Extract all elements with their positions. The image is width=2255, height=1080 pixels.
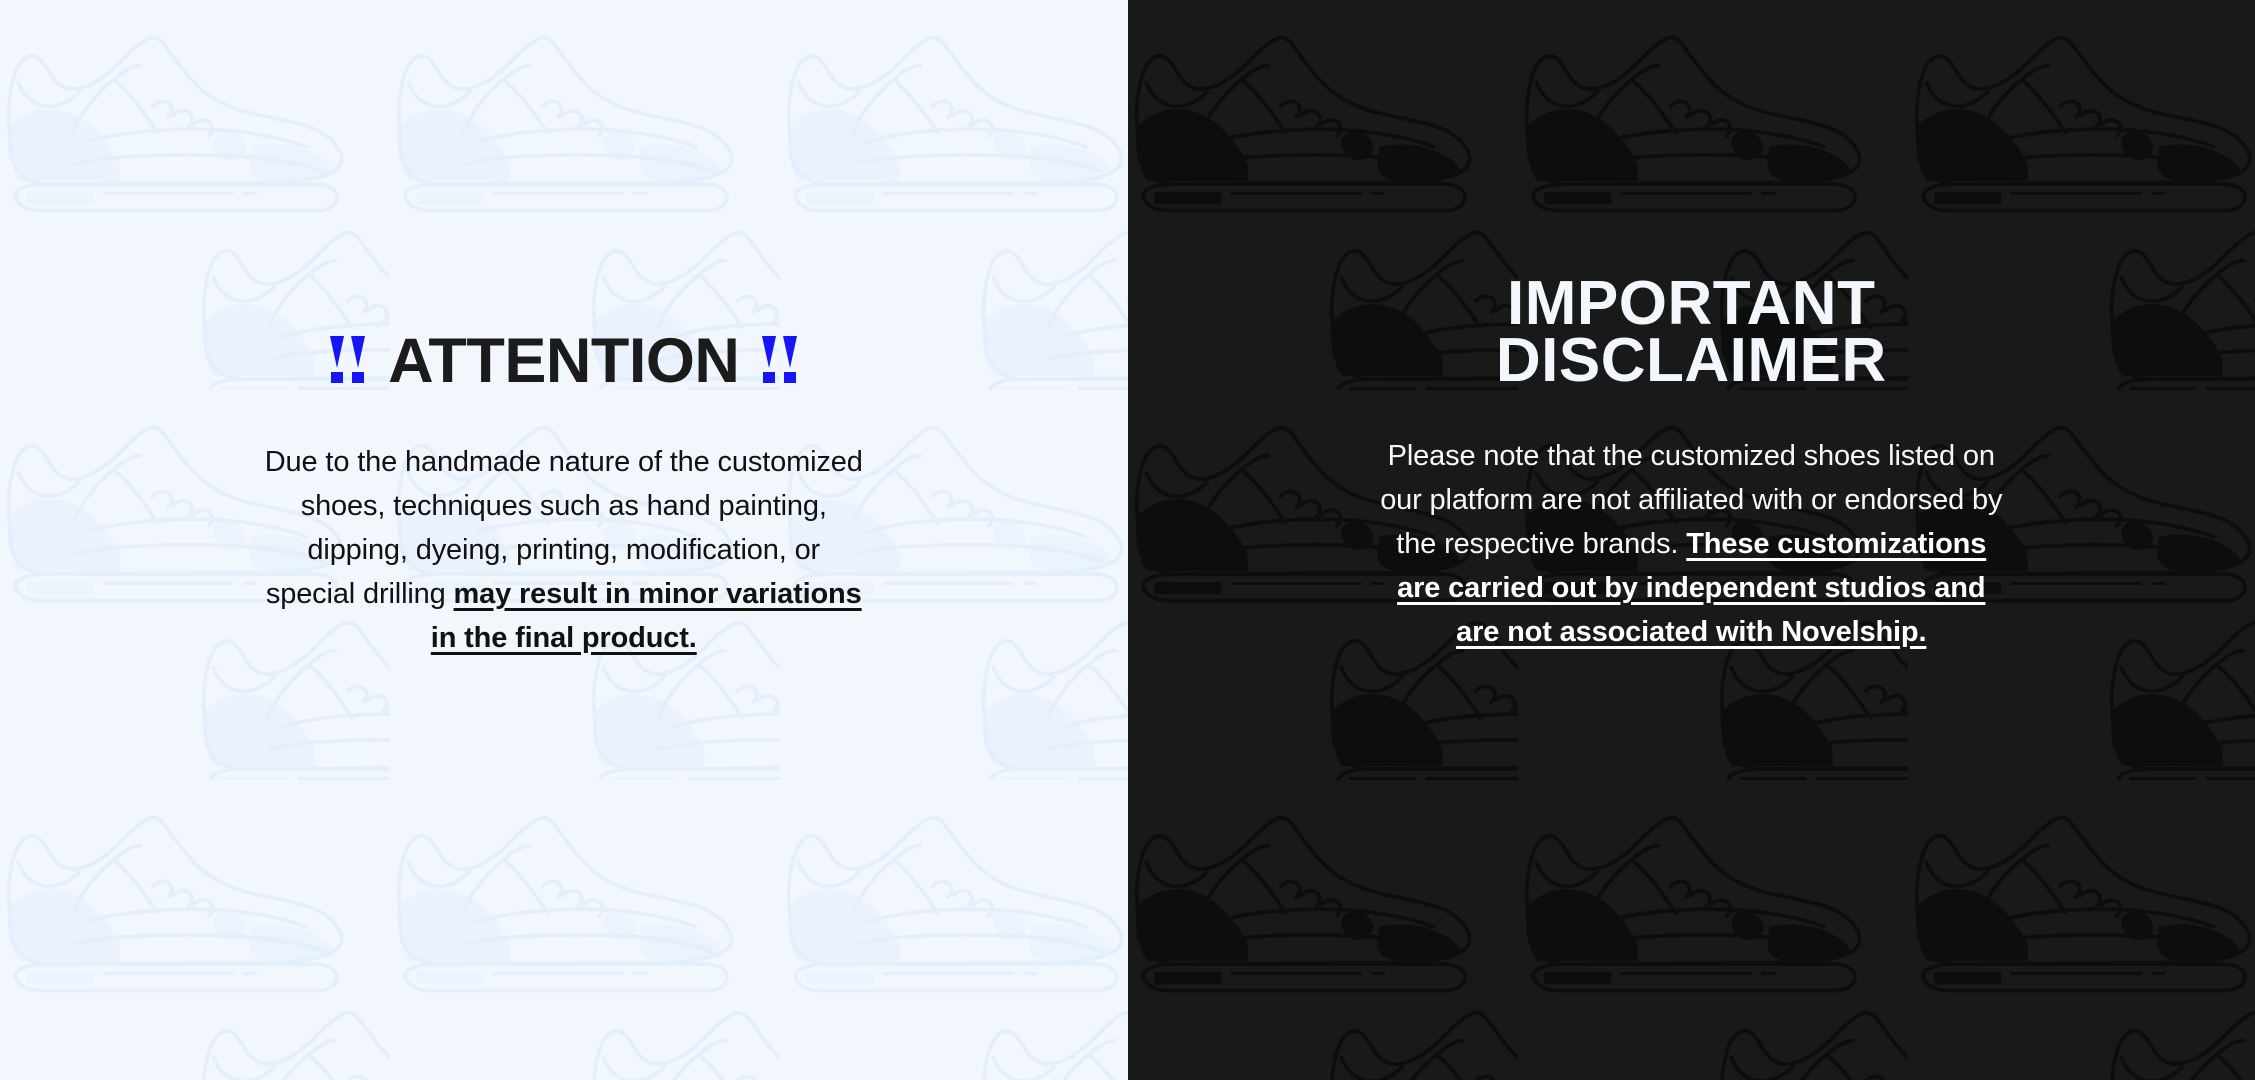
disclaimer-banner: ATTENTION Due to the handmade nature of … [0,0,2255,1080]
attention-body-text: Due to the handmade nature of the custom… [264,440,864,660]
double-exclamation-mark-icon-right [761,336,798,383]
disclaimer-heading: IMPORTANT DISCLAIMER [1496,275,1887,389]
attention-heading: ATTENTION [329,330,798,393]
disclaimer-body-text: Please note that the customized shoes li… [1376,434,2006,654]
attention-heading-label: ATTENTION [388,330,739,393]
attention-body-emphasis: may result in minor variations in the fi… [431,578,862,654]
double-exclamation-mark-icon-left [329,336,366,383]
disclaimer-panel: IMPORTANT DISCLAIMER Please note that th… [1128,0,2255,1080]
attention-panel: ATTENTION Due to the handmade nature of … [0,0,1128,1080]
disclaimer-heading-line-2: DISCLAIMER [1496,326,1887,395]
